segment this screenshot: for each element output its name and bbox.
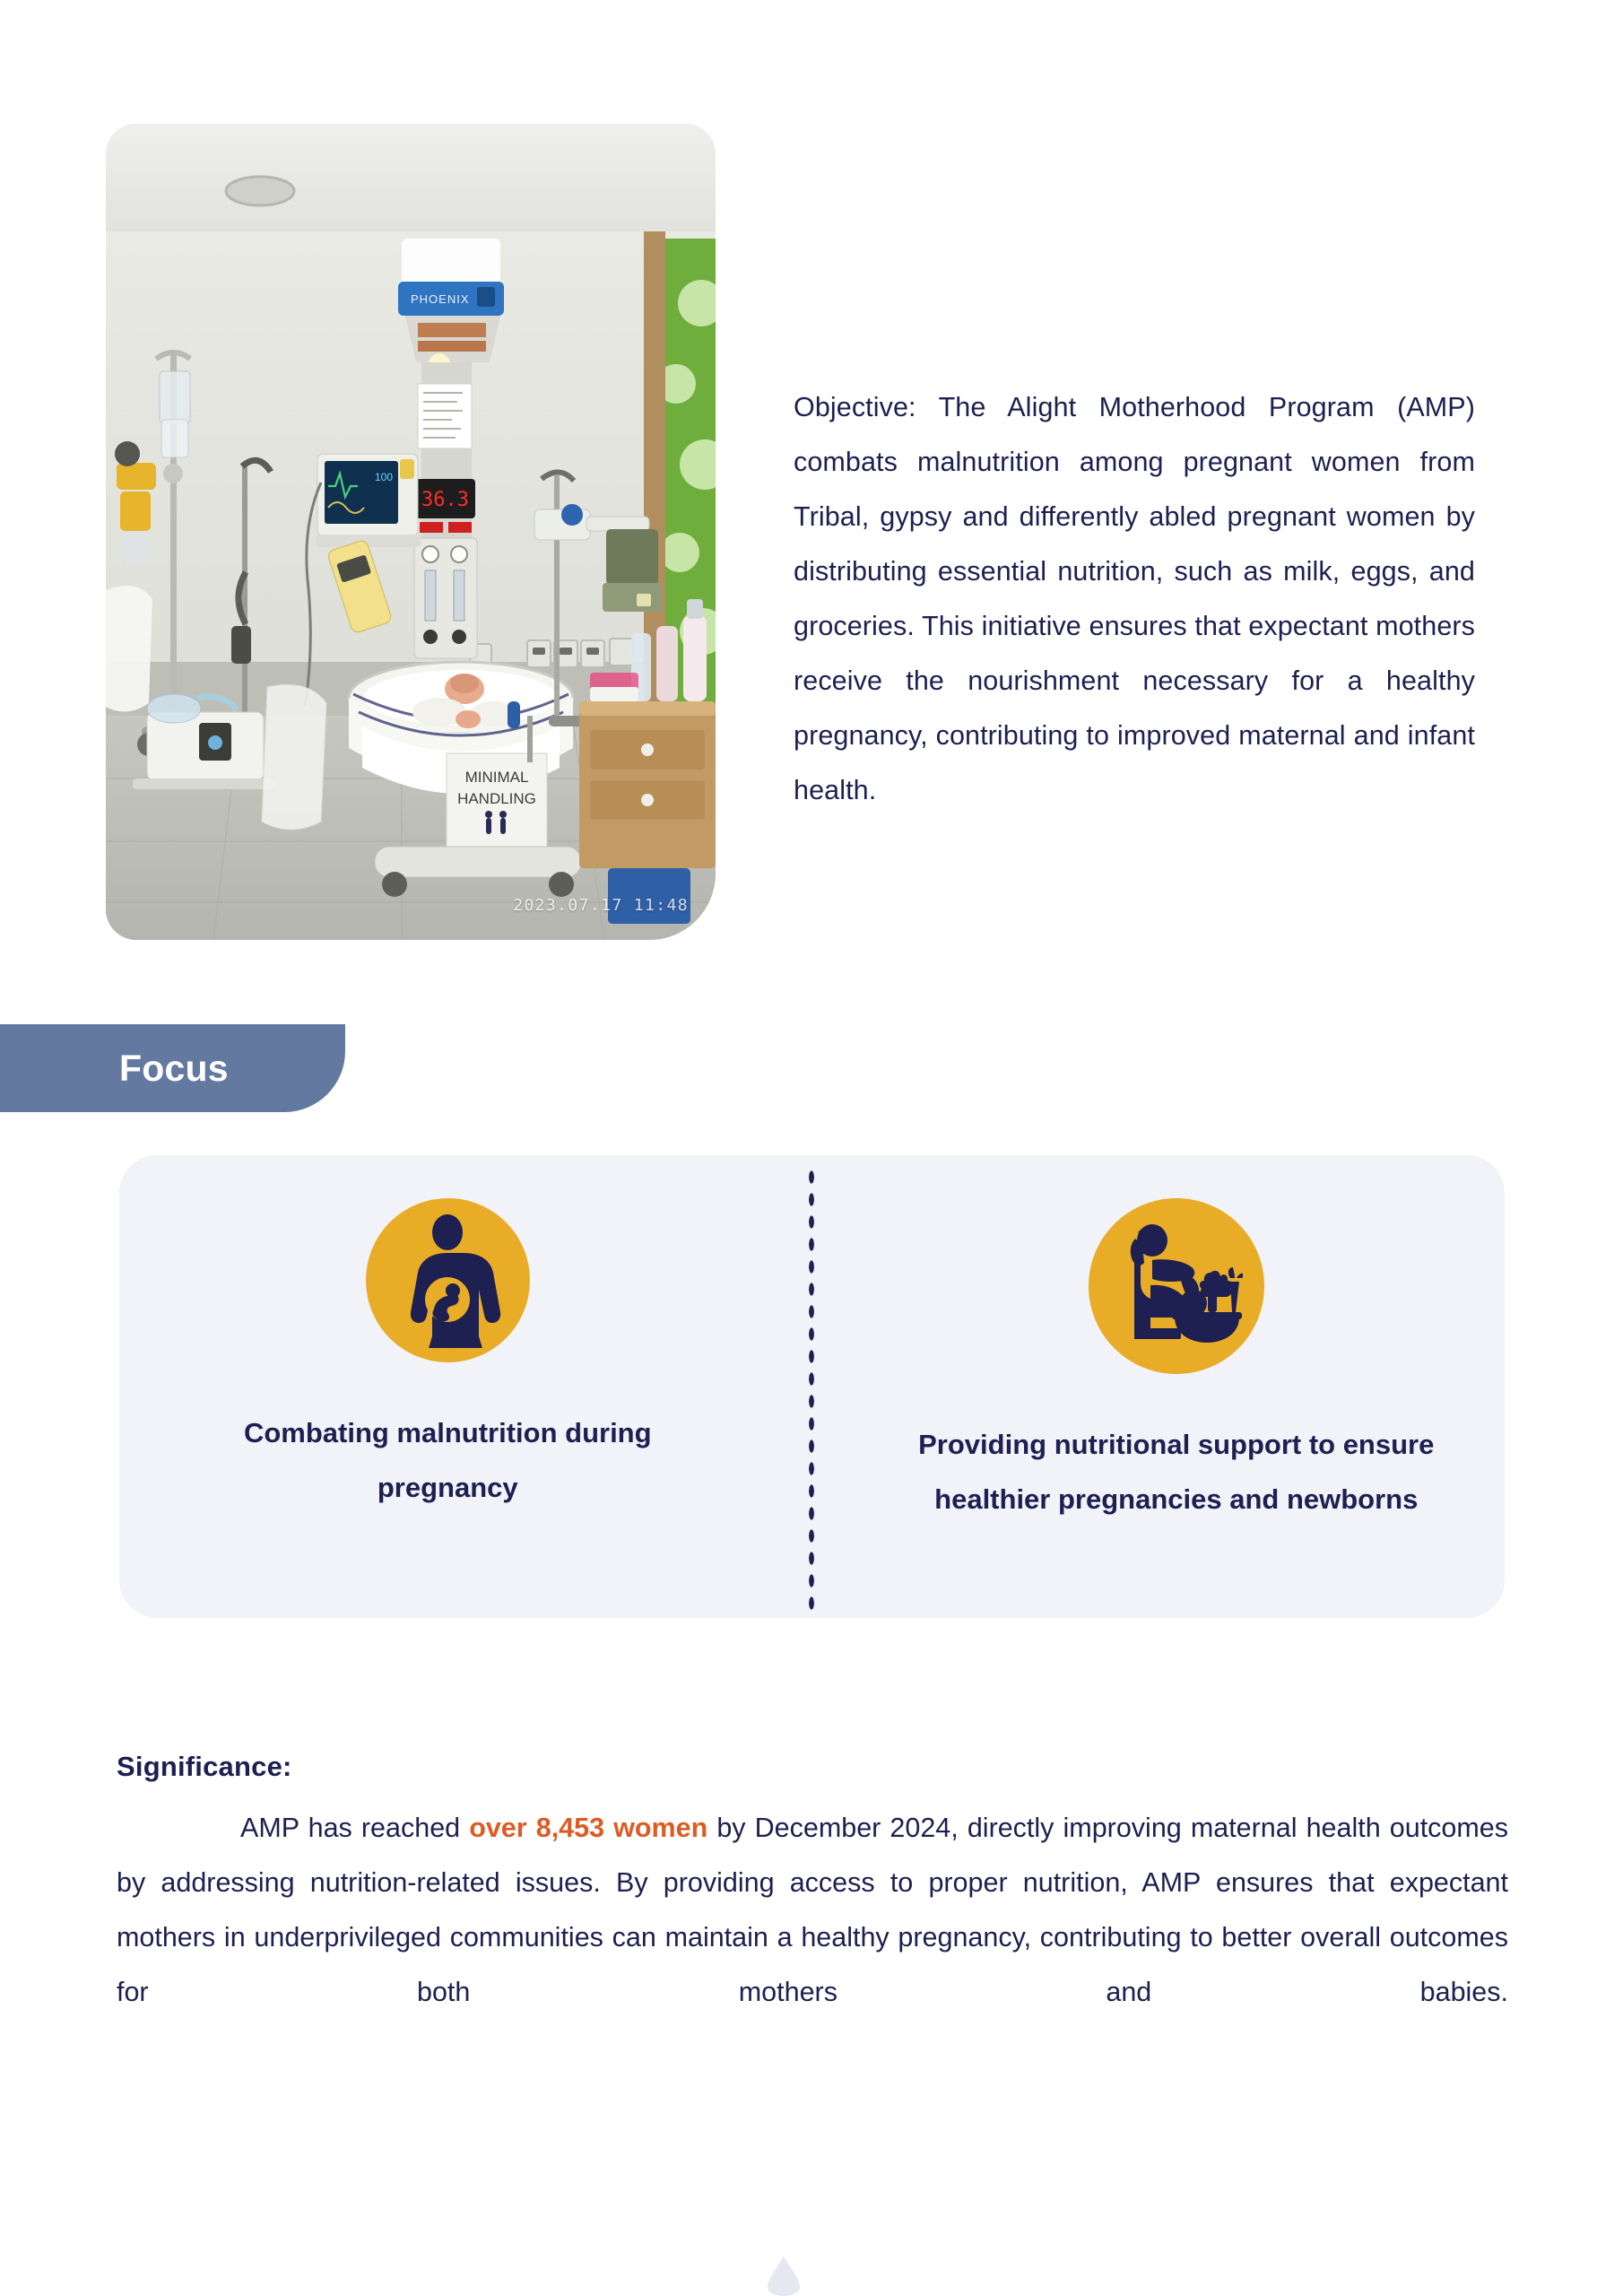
objective-paragraph-block: Objective: The Alight Motherhood Program… — [794, 380, 1475, 873]
pregnant-woman-with-food-bowl-icon — [1089, 1198, 1264, 1374]
focus-dotted-divider — [807, 1166, 816, 1611]
photo-illustration: PHOENIX — [106, 124, 716, 940]
svg-text:100: 100 — [375, 471, 393, 483]
focus-item-combating-malnutrition: Combating malnutrition during pregnancy — [119, 1155, 812, 1515]
objective-paragraph: Objective: The Alight Motherhood Program… — [794, 380, 1475, 873]
nutrition-support-glyph — [1110, 1222, 1243, 1350]
significance-section: Significance: AMP has reached over 8,453… — [117, 1751, 1508, 2074]
document-page: PHOENIX — [0, 0, 1623, 2296]
svg-text:PHOENIX: PHOENIX — [411, 292, 470, 306]
neonatal-icu-room-photo: PHOENIX — [106, 124, 716, 940]
focus-item-caption: Combating malnutrition during pregnancy — [196, 1405, 699, 1515]
footer-decoration-mark — [759, 2253, 809, 2296]
focus-banner-label: Focus — [119, 1048, 229, 1090]
objective-section: PHOENIX — [0, 0, 1623, 987]
significance-heading: Significance: — [117, 1751, 1508, 1783]
photo-timestamp: 2023.07.17 11:48 — [513, 896, 689, 915]
focus-item-caption: Providing nutritional support to ensure … — [863, 1417, 1490, 1526]
svg-text:MINIMAL: MINIMAL — [465, 769, 529, 786]
svg-text:36.3: 36.3 — [421, 489, 469, 511]
focus-item-nutritional-support: Providing nutritional support to ensure … — [812, 1155, 1506, 1526]
svg-text:HANDLING: HANDLING — [457, 790, 536, 807]
focus-section-banner: Focus — [0, 1024, 345, 1112]
significance-highlight-reach: over 8,453 women — [469, 1813, 707, 1843]
significance-text-part1: AMP has reached — [240, 1813, 469, 1843]
significance-paragraph: AMP has reached over 8,453 women by Dece… — [117, 1801, 1508, 2074]
pregnant-woman-glyph — [388, 1213, 507, 1348]
pregnant-woman-icon — [366, 1198, 530, 1362]
